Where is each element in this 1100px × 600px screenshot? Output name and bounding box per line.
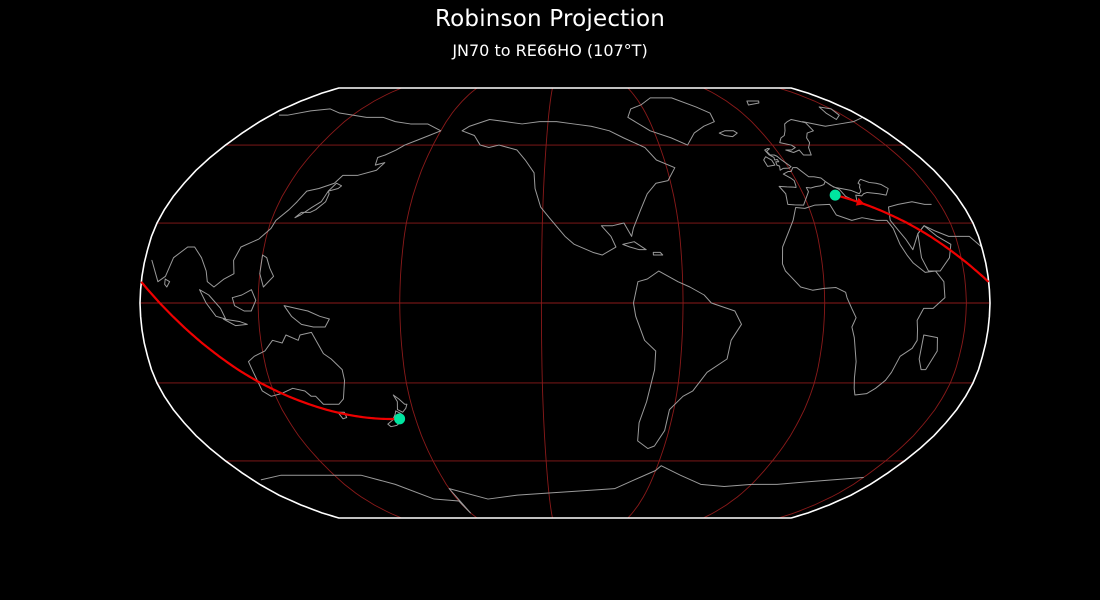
station-marker-iu8plp[interactable] [830, 190, 841, 201]
map-figure: Robinson Projection JN70 to RE66HO (107°… [0, 0, 1100, 600]
robinson-map-canvas [0, 0, 1100, 600]
graticule-layer [140, 88, 990, 518]
station-marker-zl3tux[interactable] [394, 413, 405, 424]
coastline-layer [152, 98, 982, 513]
